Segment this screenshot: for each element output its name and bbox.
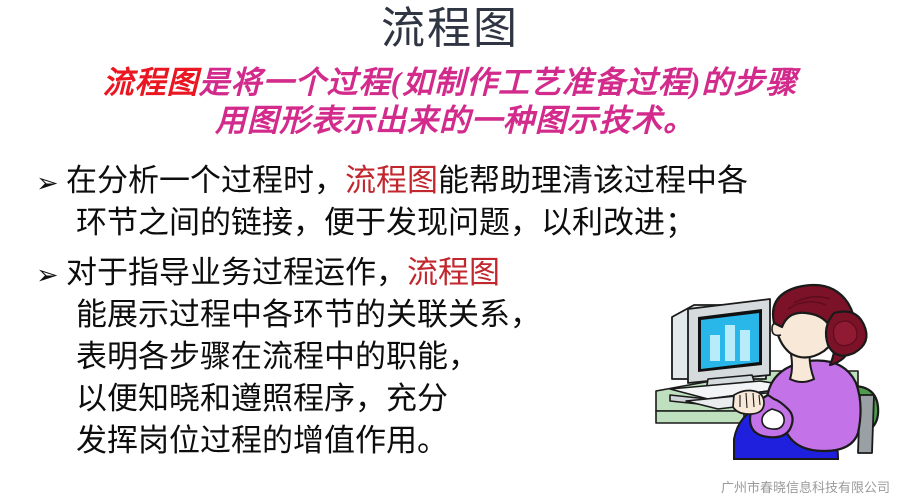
subtitle-block: 流程图是将一个过程(如制作工艺准备过程)的步骤 用图形表示出来的一种图示技术。 [0, 64, 900, 140]
page-title: 流程图 [0, 2, 900, 56]
subtitle-line-2: 用图形表示出来的一种图示技术。 [0, 102, 900, 140]
list-item-keyword: 流程图 [345, 163, 438, 198]
list-item-line: 在分析一个过程时，流程图能帮助理清该过程中各 [66, 160, 878, 202]
list-item-keyword: 流程图 [407, 255, 500, 290]
subtitle-keyword: 流程图 [103, 65, 199, 100]
footer-company-name: 广州市春晓信息科技有限公司 [721, 479, 890, 497]
list-item-line: 环节之间的链接，便于发现问题，以利改进； [66, 202, 878, 244]
woman-at-computer-illustration [648, 283, 898, 468]
list-item-text-post: 能帮助理清该过程中各 [438, 163, 748, 198]
list-item-text-pre: 在分析一个过程时， [66, 163, 345, 198]
bullet-arrow-icon: ➢ [36, 256, 62, 294]
slide-canvas: 流程图 流程图是将一个过程(如制作工艺准备过程)的步骤 用图形表示出来的一种图示… [0, 0, 900, 500]
list-item: ➢ 在分析一个过程时，流程图能帮助理清该过程中各 环节之间的链接，便于发现问题，… [28, 160, 878, 244]
subtitle-line-1-text: 是将一个过程(如制作工艺准备过程)的步骤 [199, 65, 798, 100]
list-item-body: 在分析一个过程时，流程图能帮助理清该过程中各 环节之间的链接，便于发现问题，以利… [28, 160, 878, 244]
list-item-text-pre: 对于指导业务过程运作， [66, 255, 407, 290]
subtitle-line-1: 流程图是将一个过程(如制作工艺准备过程)的步骤 [0, 64, 900, 102]
bullet-arrow-icon: ➢ [36, 164, 62, 202]
